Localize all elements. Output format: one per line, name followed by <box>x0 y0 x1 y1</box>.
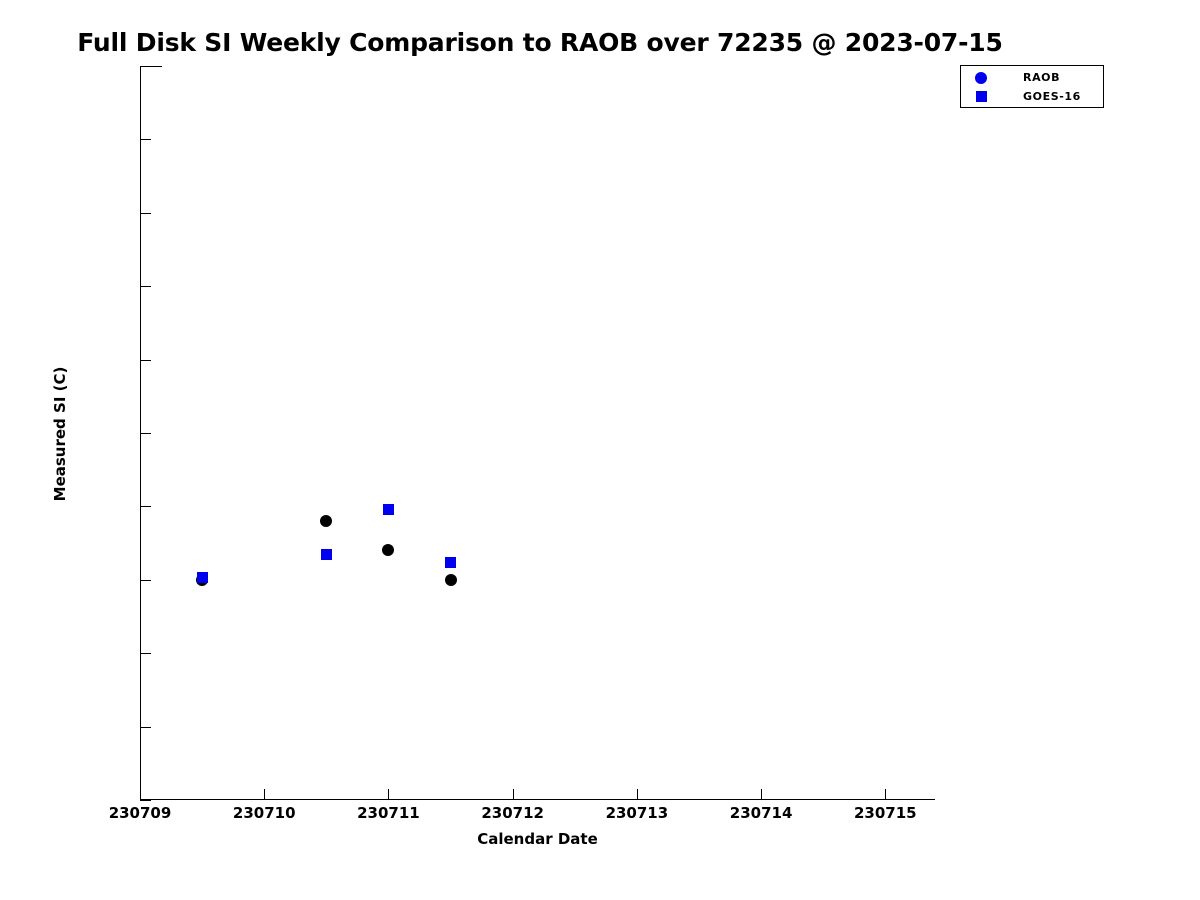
legend-square-icon <box>961 91 1001 102</box>
legend-circle-icon <box>961 72 1001 84</box>
y-tick-mark <box>140 433 151 434</box>
x-tick-mark <box>761 789 762 800</box>
y-tick-mark <box>140 727 151 728</box>
x-tick-mark <box>513 789 514 800</box>
chart-title: Full Disk SI Weekly Comparison to RAOB o… <box>0 28 1080 57</box>
x-tick-mark <box>388 789 389 800</box>
y-tick-mark <box>140 800 151 801</box>
data-point-goes-16 <box>321 549 332 560</box>
y-tick-mark <box>140 360 151 361</box>
x-tick-mark <box>637 789 638 800</box>
data-point-goes-16 <box>383 504 394 515</box>
legend-label-raob: RAOB <box>1023 71 1060 84</box>
x-tick-mark <box>264 789 265 800</box>
y-tick-mark <box>140 653 151 654</box>
data-point-goes-16 <box>197 572 208 583</box>
y-tick-mark <box>140 213 151 214</box>
legend-item-raob: RAOB <box>961 67 1103 88</box>
legend-label-goes16: GOES-16 <box>1023 90 1081 103</box>
y-tick-mark <box>140 286 151 287</box>
y-axis-label: Measured SI (C) <box>51 334 69 534</box>
y-tick-mark <box>140 580 151 581</box>
plot-area <box>140 66 935 800</box>
chart-figure: Full Disk SI Weekly Comparison to RAOB o… <box>0 0 1200 900</box>
x-tick-label: 230715 <box>805 806 965 821</box>
x-tick-mark <box>140 789 141 800</box>
y-tick-mark <box>140 506 151 507</box>
y-tick-mark <box>140 139 151 140</box>
y-tick-mark <box>140 66 151 67</box>
data-point-goes-16 <box>445 557 456 568</box>
data-point-raob <box>445 574 457 586</box>
x-axis-label: Calendar Date <box>140 830 935 848</box>
chart-legend: RAOB GOES-16 <box>960 65 1104 108</box>
legend-item-goes16: GOES-16 <box>961 86 1103 107</box>
x-tick-mark <box>885 789 886 800</box>
